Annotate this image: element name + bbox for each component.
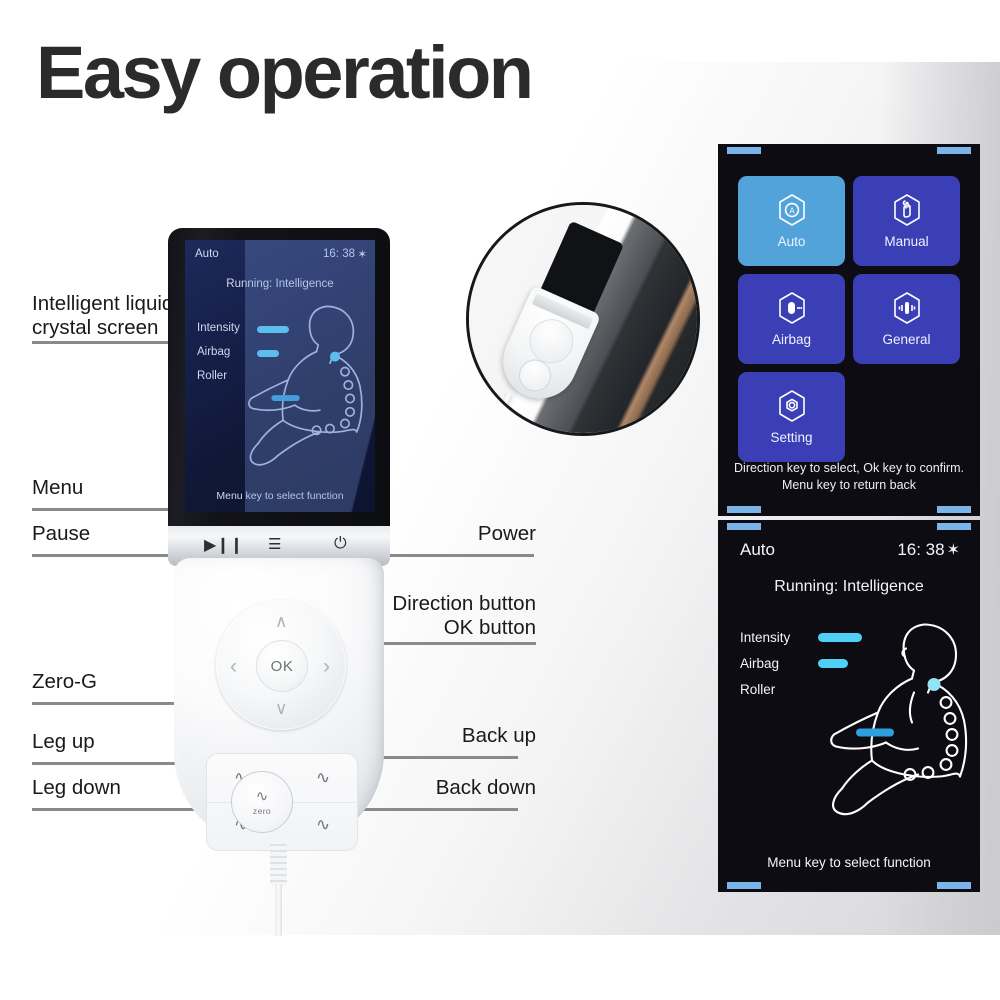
menu-tile-label: Setting [770, 430, 812, 445]
chevron-down-icon[interactable]: ∨ [275, 700, 287, 717]
status-time: 16: 38 [897, 540, 944, 560]
corner-bracket-bottom-right [937, 882, 971, 889]
corner-bracket-bottom-left [727, 506, 761, 513]
corner-bracket-top-right [937, 147, 971, 154]
remote-cable-strain-relief [270, 840, 287, 886]
menu-lines-icon[interactable]: ☰ [268, 535, 281, 553]
remote-cable [275, 884, 282, 936]
menu-tile-label: Manual [884, 234, 928, 249]
zero-g-label: zero [253, 806, 271, 816]
menu-tile-auto[interactable]: A Auto [738, 176, 845, 266]
menu-tile-airbag[interactable]: Airbag [738, 274, 845, 364]
status-row-label-roller: Roller [740, 682, 775, 697]
remote-lcd-row-roller: Roller [197, 370, 227, 382]
remote-lcd-screen: Auto 16: 38 ✶ Running: Intelligence Inte… [185, 240, 375, 512]
remote-control: Auto 16: 38 ✶ Running: Intelligence Inte… [168, 228, 390, 848]
status-row-label-airbag: Airbag [740, 656, 779, 671]
status-mode-label: Auto [740, 540, 775, 560]
menu-screen: A Auto Manual [718, 144, 980, 516]
chevron-up-icon[interactable]: ∧ [275, 613, 287, 630]
status-time-group: 16: 38 ✶ [897, 540, 960, 560]
ok-button[interactable]: OK [256, 640, 308, 692]
svg-text:A: A [789, 207, 795, 216]
callout-back-up: Back up [462, 724, 536, 748]
play-pause-icon[interactable]: ▶❙❙ [204, 535, 243, 555]
seated-body-figure [828, 612, 978, 832]
menu-screen-wrap: A Auto Manual [718, 144, 980, 516]
corner-bracket-top-left [727, 147, 761, 154]
menu-tile-manual[interactable]: Manual [853, 176, 960, 266]
menu-hint-text: Direction key to select, Ok key to confi… [734, 460, 964, 494]
status-running-label: Running: Intelligence [718, 578, 980, 596]
manual-hex-icon [892, 193, 922, 227]
bluetooth-icon: ✶ [357, 247, 367, 261]
menu-tile-label: Airbag [772, 332, 811, 347]
callout-lcd-screen: Intelligent liquid crystal screen [32, 292, 173, 340]
callout-zero-g: Zero-G [32, 670, 97, 694]
power-icon[interactable]: ⏻ [334, 535, 347, 553]
chevron-left-icon[interactable]: ‹ [230, 656, 237, 677]
corner-bracket-bottom-left [727, 882, 761, 889]
callout-menu: Menu [32, 476, 83, 500]
auto-hex-icon: A [777, 193, 807, 227]
callout-leg-up: Leg up [32, 730, 95, 754]
remote-lcd-row-airbag: Airbag [197, 346, 230, 358]
corner-bracket-top-left [727, 523, 761, 530]
seated-body-figure [245, 298, 373, 478]
remote-lcd-mode: Auto [195, 248, 219, 260]
callout-power: Power [478, 522, 536, 546]
remote-lcd-running: Running: Intelligence [185, 278, 375, 290]
callout-direction-ok: Direction button OK button [392, 592, 536, 640]
zero-g-button[interactable]: ∿ zero [231, 771, 293, 833]
chevron-right-icon[interactable]: › [323, 656, 330, 677]
corner-bracket-bottom-right [937, 506, 971, 513]
status-row-label-intensity: Intensity [740, 630, 790, 645]
callout-pause: Pause [32, 522, 90, 546]
page-root: Easy operation Intelligent liquid crysta… [0, 0, 1000, 1000]
setting-hex-icon [777, 389, 807, 423]
airbag-hex-icon [777, 291, 807, 325]
back-down-icon[interactable]: ∿ [297, 802, 349, 848]
remote-in-situ-inset-photo [466, 202, 700, 436]
callout-back-down: Back down [436, 776, 536, 800]
corner-bracket-top-right [937, 523, 971, 530]
bluetooth-icon: ✶ [947, 540, 960, 560]
menu-tile-setting[interactable]: Setting [738, 372, 845, 462]
menu-tile-label: Auto [778, 234, 806, 249]
callout-leg-down: Leg down [32, 776, 121, 800]
zero-g-chair-icon: ∿ [256, 789, 269, 804]
menu-tile-general[interactable]: General [853, 274, 960, 364]
page-title: Easy operation [36, 36, 532, 110]
remote-lcd-hint: Menu key to select function [185, 490, 375, 502]
status-screen: Auto 16: 38 ✶ Running: Intelligence Inte… [718, 520, 980, 892]
menu-tile-label: General [882, 332, 930, 347]
remote-lcd-time: 16: 38 [323, 248, 355, 260]
menu-tile-grid: A Auto Manual [738, 176, 960, 462]
back-up-icon[interactable]: ∿ [297, 755, 349, 801]
status-hint-text: Menu key to select function [718, 855, 980, 870]
status-screen-wrap: Auto 16: 38 ✶ Running: Intelligence Inte… [718, 520, 980, 892]
general-hex-icon [892, 291, 922, 325]
remote-lcd-row-intensity: Intensity [197, 322, 240, 334]
